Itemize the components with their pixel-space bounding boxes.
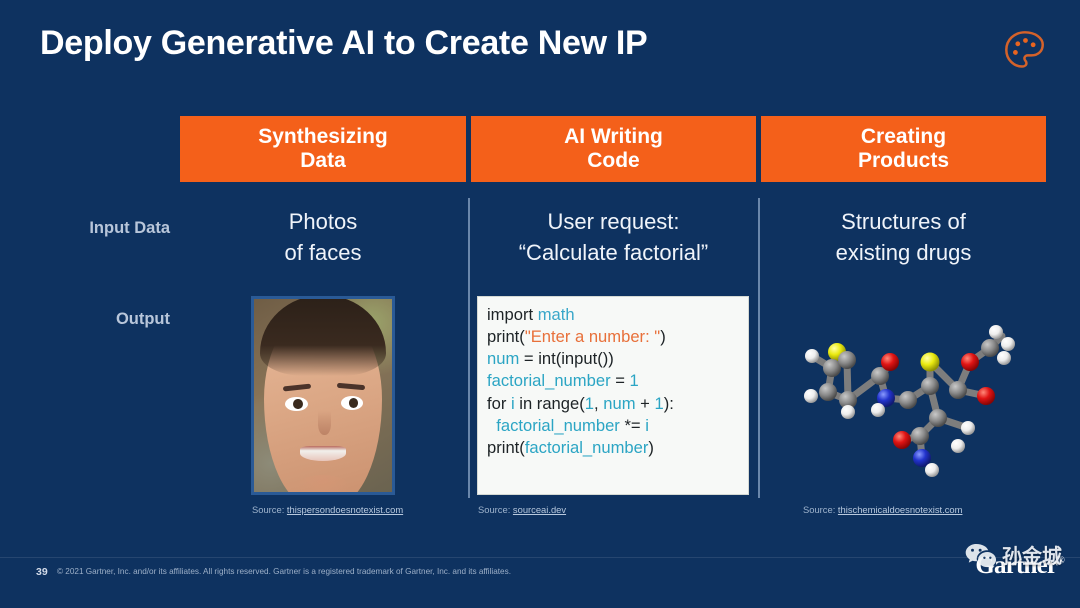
input-text-column-1: Photos of faces bbox=[180, 206, 466, 268]
header-line-1: Creating bbox=[861, 125, 946, 148]
code-token: 1 bbox=[630, 371, 639, 390]
atom-hydrogen bbox=[804, 389, 818, 403]
atom-hydrogen bbox=[925, 463, 939, 477]
column-divider-1 bbox=[468, 198, 470, 498]
eyebrow-right bbox=[337, 383, 366, 390]
column-divider-2 bbox=[758, 198, 760, 498]
code-token: print( bbox=[487, 438, 525, 457]
atom-hydrogen bbox=[871, 403, 885, 417]
input-line-2: existing drugs bbox=[836, 240, 972, 265]
code-token: i bbox=[645, 416, 649, 435]
wechat-account-name: 孙金城 bbox=[1002, 540, 1062, 569]
input-line-1: User request: bbox=[547, 209, 679, 234]
code-token: in range( bbox=[515, 394, 585, 413]
chin bbox=[295, 475, 352, 495]
code-token: 1 bbox=[585, 394, 594, 413]
source-link[interactable]: thispersondoesnotexist.com bbox=[287, 504, 403, 515]
header-line-2: Data bbox=[300, 149, 346, 172]
atom-sulfur bbox=[921, 353, 940, 372]
page-title: Deploy Generative AI to Create New IP bbox=[40, 24, 647, 63]
wechat-watermark: 孙金城 bbox=[964, 540, 1062, 569]
palette-icon bbox=[1002, 28, 1048, 74]
code-token: "Enter a number: " bbox=[525, 327, 660, 346]
header-line-2: Code bbox=[587, 149, 640, 172]
row-label-input-data: Input Data bbox=[0, 219, 178, 238]
wechat-icon bbox=[964, 542, 998, 568]
column-header-ai-writing-code[interactable]: AI WritingCode bbox=[471, 116, 756, 182]
atom-oxygen bbox=[977, 387, 995, 405]
atom-hydrogen bbox=[961, 421, 975, 435]
atom-hydrogen bbox=[805, 349, 819, 363]
code-token bbox=[487, 416, 496, 435]
atom-hydrogen bbox=[951, 439, 965, 453]
copyright-notice: © 2021 Gartner, Inc. and/or its affiliat… bbox=[57, 567, 511, 576]
header-line-1: Synthesizing bbox=[258, 125, 388, 148]
input-line-2: of faces bbox=[284, 240, 361, 265]
code-token: , bbox=[594, 394, 603, 413]
code-token: = int(input()) bbox=[519, 349, 614, 368]
atom-carbon bbox=[911, 427, 929, 445]
code-line: print("Enter a number: ") bbox=[487, 326, 748, 348]
column-header-synthesizing-data[interactable]: SynthesizingData bbox=[180, 116, 466, 182]
input-line-1: Photos bbox=[289, 209, 358, 234]
code-token: = bbox=[611, 371, 630, 390]
code-token: ) bbox=[648, 438, 654, 457]
atom-oxygen bbox=[893, 431, 911, 449]
molecule-atoms bbox=[804, 325, 1015, 477]
page-number: 39 bbox=[36, 566, 48, 578]
atom-hydrogen bbox=[1001, 337, 1015, 351]
atom-carbon bbox=[981, 339, 999, 357]
code-token: factorial_number bbox=[525, 438, 649, 457]
code-line: import math bbox=[487, 304, 748, 326]
input-line-1: Structures of bbox=[841, 209, 966, 234]
atom-carbon bbox=[921, 377, 939, 395]
code-line: factorial_number = 1 bbox=[487, 370, 748, 392]
input-text-column-3: Structures of existing drugs bbox=[761, 206, 1046, 268]
code-token: factorial_number bbox=[496, 416, 620, 435]
atom-carbon bbox=[819, 383, 837, 401]
source-caption-column-2: Source: sourceai.dev bbox=[478, 504, 566, 515]
code-token: print( bbox=[487, 327, 525, 346]
atom-carbon bbox=[838, 351, 856, 369]
eye-left bbox=[285, 397, 308, 411]
code-token: import bbox=[487, 305, 538, 324]
input-text-column-2: User request: “Calculate factorial” bbox=[471, 206, 756, 268]
code-token: factorial_number bbox=[487, 371, 611, 390]
code-line: print(factorial_number) bbox=[487, 437, 748, 459]
output-photo-column-1 bbox=[251, 296, 395, 495]
atom-hydrogen bbox=[997, 351, 1011, 365]
input-line-2: “Calculate factorial” bbox=[519, 240, 709, 265]
code-token: for bbox=[487, 394, 511, 413]
code-token: num bbox=[487, 349, 519, 368]
generated-face-photo bbox=[251, 296, 395, 495]
atom-carbon bbox=[929, 409, 947, 427]
column-header-creating-products[interactable]: CreatingProducts bbox=[761, 116, 1046, 182]
atom-oxygen bbox=[881, 353, 899, 371]
nose bbox=[318, 411, 331, 435]
code-token: *= bbox=[620, 416, 645, 435]
source-caption-column-3: Source: thischemicaldoesnotexist.com bbox=[803, 504, 962, 515]
source-label: Source: bbox=[478, 504, 510, 515]
output-molecule-model bbox=[790, 300, 1040, 492]
header-line-1: AI Writing bbox=[564, 125, 663, 148]
atom-hydrogen bbox=[841, 405, 855, 419]
mouth bbox=[300, 446, 345, 461]
source-link[interactable]: thischemicaldoesnotexist.com bbox=[838, 504, 963, 515]
header-line-2: Products bbox=[858, 149, 949, 172]
code-token: 1 bbox=[654, 394, 663, 413]
output-code-block: import mathprint("Enter a number: ")num … bbox=[477, 296, 749, 495]
slide-root: Deploy Generative AI to Create New IP Sy… bbox=[0, 0, 1080, 608]
code-token: ) bbox=[660, 327, 666, 346]
row-label-output: Output bbox=[0, 310, 178, 329]
atom-oxygen bbox=[961, 353, 979, 371]
code-token: ): bbox=[664, 394, 674, 413]
neck bbox=[287, 493, 358, 495]
footer-divider bbox=[0, 557, 1080, 558]
code-line: num = int(input()) bbox=[487, 348, 748, 370]
code-line: factorial_number *= i bbox=[487, 415, 748, 437]
eye-right bbox=[341, 396, 364, 410]
code-token: num bbox=[603, 394, 635, 413]
code-token: math bbox=[538, 305, 575, 324]
atom-carbon bbox=[949, 381, 967, 399]
source-link[interactable]: sourceai.dev bbox=[513, 504, 566, 515]
source-label: Source: bbox=[803, 504, 835, 515]
pupil-left bbox=[293, 399, 302, 409]
atom-hydrogen bbox=[989, 325, 1003, 339]
eyebrow-left bbox=[282, 384, 311, 392]
pupil-right bbox=[349, 398, 358, 408]
atom-carbon bbox=[899, 391, 917, 409]
source-caption-column-1: Source: thispersondoesnotexist.com bbox=[252, 504, 403, 515]
code-token: + bbox=[636, 394, 655, 413]
source-label: Source: bbox=[252, 504, 284, 515]
code-line: for i in range(1, num + 1): bbox=[487, 393, 748, 415]
